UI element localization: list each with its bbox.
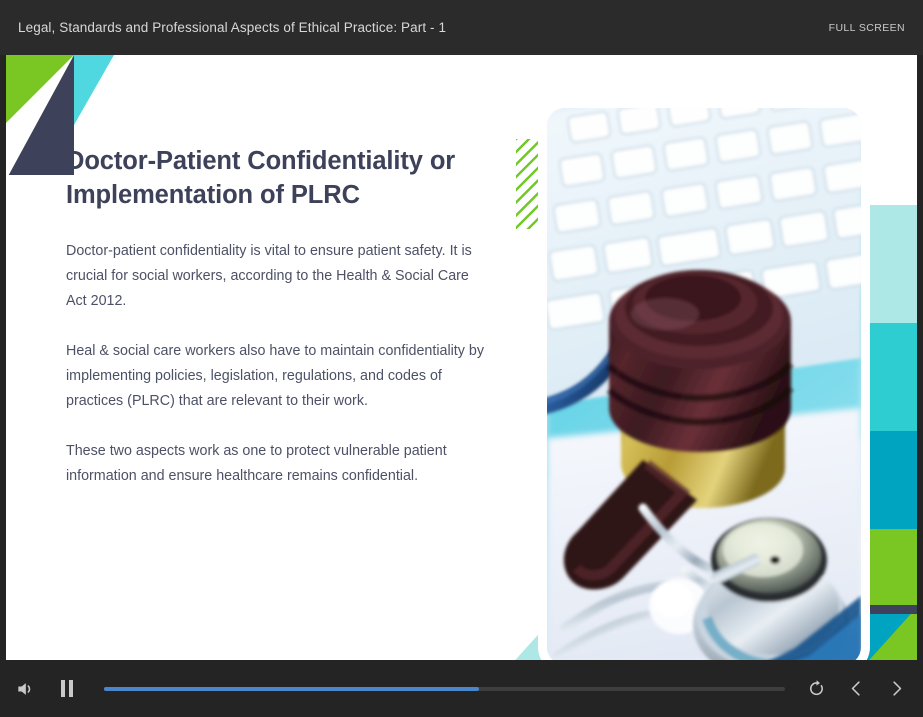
elearning-player: Legal, Standards and Professional Aspect… (0, 0, 923, 717)
slide-paragraph-2: Heal & social care workers also have to … (66, 339, 486, 414)
chevron-right-icon (887, 679, 906, 698)
player-header: Legal, Standards and Professional Aspect… (0, 0, 923, 55)
navy-triangle-shape (6, 55, 74, 175)
progress-bar[interactable] (104, 686, 785, 692)
volume-button[interactable] (8, 672, 42, 706)
player-controls (0, 660, 923, 717)
slide-paragraph-3: These two aspects work as one to protect… (66, 439, 486, 489)
previous-button[interactable] (839, 672, 873, 706)
slide-stage: Doctor-Patient Confidentiality or Implem… (6, 55, 917, 660)
gavel-stethoscope-keyboard-image (547, 108, 861, 660)
green-triangle-shape (6, 55, 74, 123)
course-title: Legal, Standards and Professional Aspect… (18, 20, 446, 35)
progress-fill (104, 687, 479, 691)
next-button[interactable] (879, 672, 913, 706)
pause-button[interactable] (52, 672, 82, 706)
replay-button[interactable] (799, 672, 833, 706)
fullscreen-button[interactable]: FULL SCREEN (829, 22, 905, 34)
slide-photo (547, 108, 861, 660)
slide-paragraph-1: Doctor-patient confidentiality is vital … (66, 239, 486, 314)
slide-title: Doctor-Patient Confidentiality or Implem… (66, 145, 486, 213)
cyan-triangle-shape (74, 55, 114, 125)
chevron-left-icon (847, 679, 866, 698)
pause-icon-bar-right (69, 680, 73, 697)
replay-icon (807, 679, 826, 698)
pause-icon-bar-left (61, 680, 65, 697)
slide-text-column: Doctor-Patient Confidentiality or Implem… (66, 145, 486, 489)
bottom-band-green (869, 614, 917, 660)
volume-icon (15, 679, 35, 699)
